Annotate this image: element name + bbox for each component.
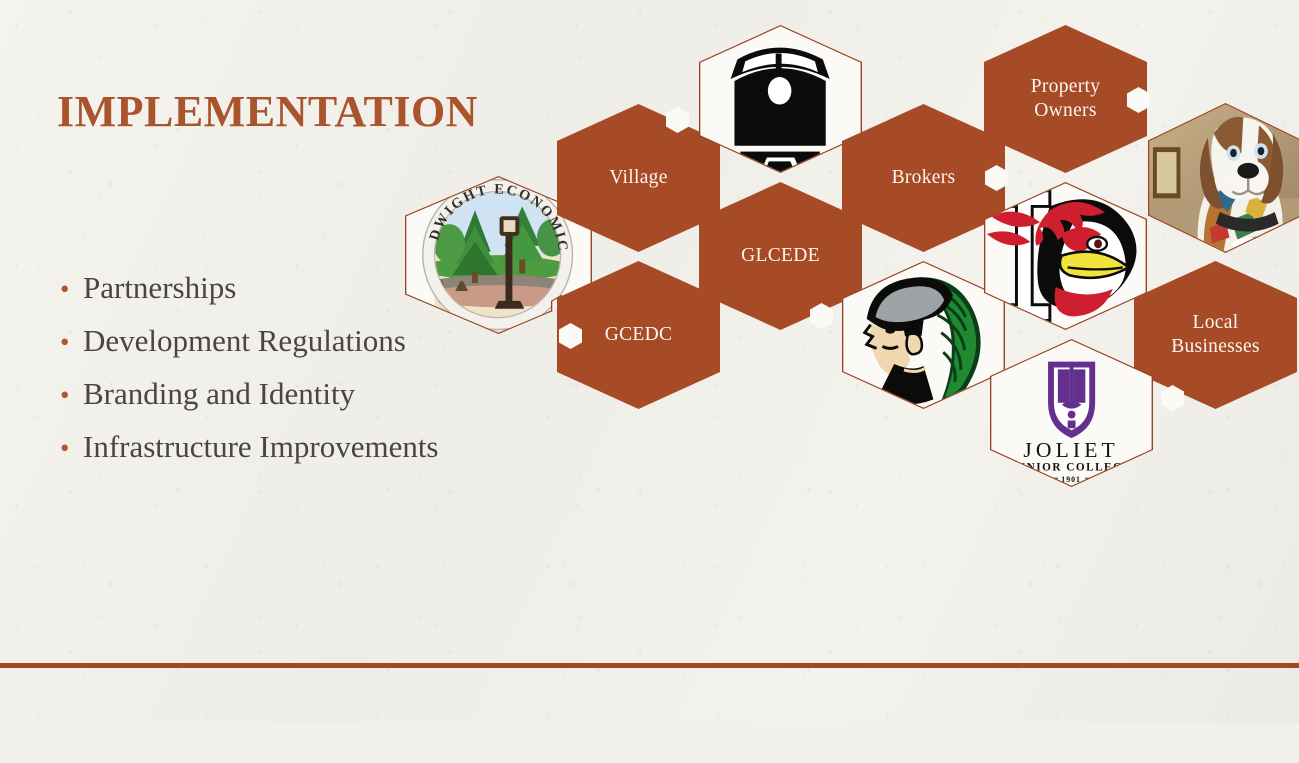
hex-label: Local Businesses: [1171, 311, 1260, 359]
painted-dog-sculpture-photo: [1149, 104, 1299, 251]
hex-label: GLCEDE: [741, 244, 820, 268]
trojan-warrior-head-logo: [843, 262, 1003, 407]
joliet-wordmark: JOLIET: [1024, 438, 1119, 462]
hex-cell-local-businesses[interactable]: Local Businesses: [1134, 261, 1297, 409]
hex-cell-brokers[interactable]: Brokers: [842, 104, 1005, 252]
hex-cell-glcede[interactable]: GLCEDE: [699, 182, 862, 330]
joliet-junior-college-logo: JOLIET JUNIOR COLLEGE 1901: [991, 340, 1151, 485]
honeycomb-diagram: DWIGHT ECONOMIC ALLIANCE Village GCEDC: [0, 0, 1299, 723]
hex-label: Village: [609, 166, 667, 190]
cardinal-redbird-mascot-logo: [985, 183, 1145, 328]
footer-divider: [0, 663, 1299, 668]
hex-cell-joliet-junior-college[interactable]: JOLIET JUNIOR COLLEGE 1901: [990, 339, 1153, 487]
hex-cell-dog-photo[interactable]: [1148, 103, 1299, 253]
hex-label: GCEDC: [605, 323, 673, 347]
founding-year: 1901: [1062, 475, 1082, 484]
hex-label: Brokers: [892, 166, 956, 190]
hex-label: Property Owners: [1031, 75, 1101, 123]
junior-college-wordmark: JUNIOR COLLEGE: [1010, 462, 1132, 474]
slide-canvas: IMPLEMENTATION • Partnerships • Developm…: [0, 0, 1299, 723]
hex-cell-redbird[interactable]: [984, 182, 1147, 330]
train-locomotive-icon: [700, 26, 860, 171]
hex-cell-property-owners[interactable]: Property Owners: [984, 25, 1147, 173]
hex-cell-trojan[interactable]: [842, 261, 1005, 409]
hex-cell-train[interactable]: [699, 25, 862, 173]
